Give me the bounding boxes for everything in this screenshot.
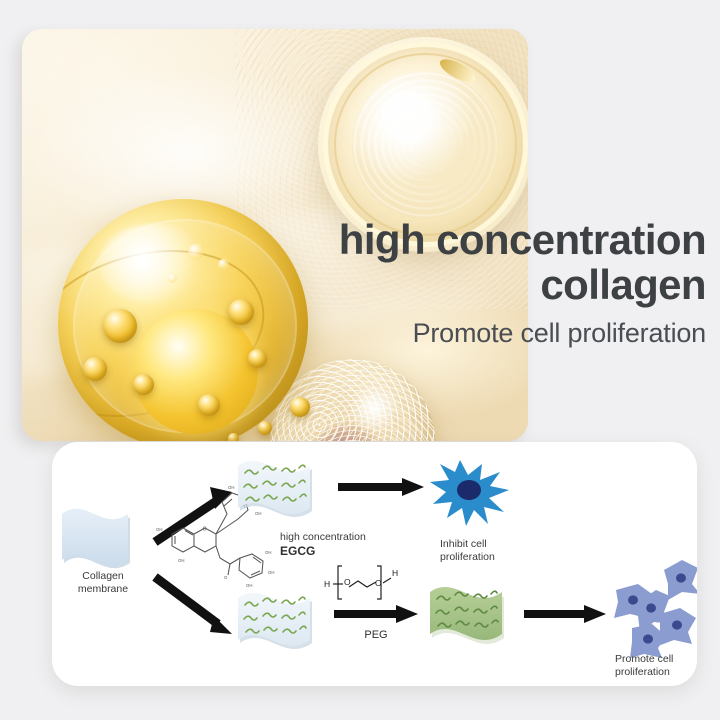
node-promote-cells bbox=[614, 560, 697, 658]
arrow-green-to-cells bbox=[524, 605, 606, 623]
svg-text:O: O bbox=[224, 575, 228, 580]
collagen-membrane-label-line1: Collagen bbox=[60, 570, 146, 583]
gold-bead bbox=[290, 397, 310, 417]
svg-text:OH: OH bbox=[156, 527, 162, 532]
svg-text:OH: OH bbox=[268, 570, 274, 575]
gold-bead bbox=[228, 433, 239, 441]
svg-text:OH: OH bbox=[228, 485, 234, 490]
peg-atom-h-right: H bbox=[392, 568, 398, 578]
label-collagen-membrane: Collagen membrane bbox=[60, 570, 146, 596]
promote-cells-label-line1: Promote cell bbox=[615, 653, 673, 665]
arrow-branch-down bbox=[155, 577, 232, 634]
mechanism-diagram-card: O OH OH OH OH OH bbox=[52, 442, 697, 686]
label-promote-cells: Promote cell proliferation bbox=[615, 653, 673, 678]
inhibit-cell-label-line1: Inhibit cell bbox=[440, 538, 487, 550]
peg-atom-o-right: O bbox=[375, 578, 382, 588]
collagen-membrane-label-line2: membrane bbox=[60, 583, 146, 596]
headline-line-1: high concentration bbox=[339, 216, 706, 263]
gold-bead bbox=[83, 357, 107, 381]
inhibit-cell-label-line2: proliferation bbox=[440, 551, 495, 563]
mechanism-diagram-svg: O OH OH OH OH OH bbox=[52, 442, 697, 686]
arrow-peg: PEG bbox=[334, 605, 418, 641]
promote-cells-label-line2: proliferation bbox=[615, 666, 670, 678]
label-inhibit-cell: Inhibit cell proliferation bbox=[440, 538, 495, 563]
node-egcg-membrane-top bbox=[238, 461, 312, 517]
node-collagen-membrane bbox=[62, 509, 130, 568]
gold-bead bbox=[258, 421, 272, 435]
page-subtitle: Promote cell proliferation bbox=[66, 318, 706, 349]
egcg-caption-line2: EGCG bbox=[280, 544, 315, 558]
headline-line-2: collagen bbox=[66, 263, 706, 308]
gold-bead bbox=[133, 374, 154, 395]
label-egcg: high concentration EGCG bbox=[280, 531, 366, 558]
svg-text:OH: OH bbox=[255, 511, 261, 516]
node-peg-membrane bbox=[430, 587, 504, 644]
gold-bead bbox=[198, 394, 220, 416]
gold-bead bbox=[248, 349, 267, 368]
egcg-caption-line1: high concentration bbox=[280, 531, 366, 543]
svg-text:O: O bbox=[202, 527, 206, 533]
peg-arrow-caption: PEG bbox=[364, 629, 387, 641]
svg-text:OH: OH bbox=[265, 550, 271, 555]
page-root: high concentration collagen Promote cell… bbox=[0, 0, 720, 720]
peg-atom-o-left: O bbox=[344, 577, 351, 587]
svg-text:OH: OH bbox=[246, 583, 252, 588]
node-egcg-membrane-bottom bbox=[238, 593, 312, 649]
svg-text:OH: OH bbox=[178, 558, 184, 563]
glitter-highlight bbox=[346, 385, 402, 431]
molecule-peg-icon: H O O H bbox=[324, 566, 398, 599]
arrow-top-to-cell bbox=[338, 478, 424, 496]
node-inhibit-cell bbox=[430, 460, 509, 526]
page-title: high concentration collagen bbox=[66, 218, 706, 308]
peg-atom-h-left: H bbox=[324, 579, 330, 589]
